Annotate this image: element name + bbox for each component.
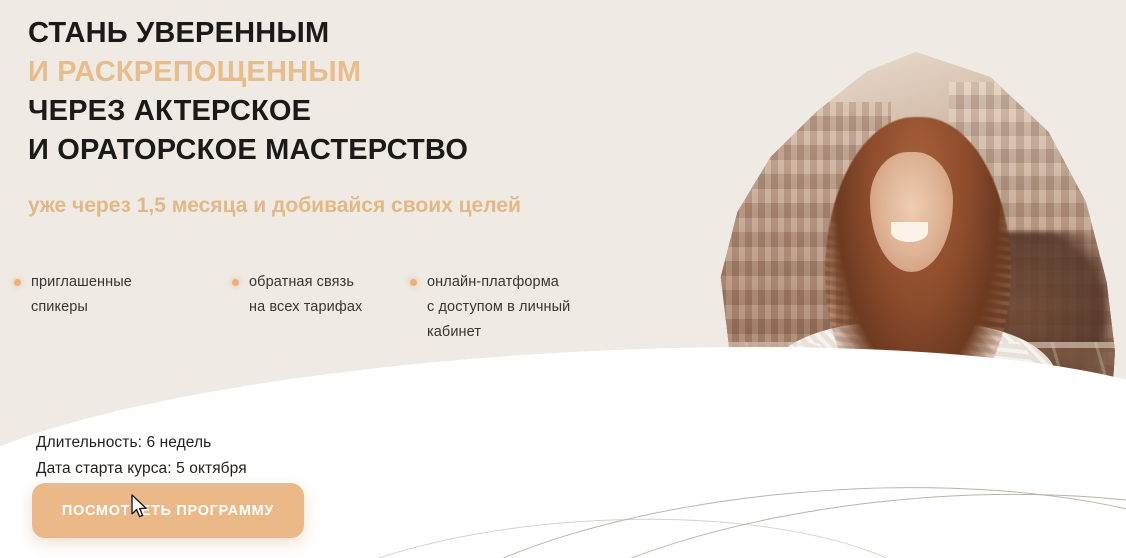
feature-line: онлайн-платформа: [427, 274, 559, 290]
feature-line: с доступом в личный: [427, 299, 570, 315]
headline-line-1-dark: СТАНЬ: [28, 17, 128, 49]
feature-line: кабинет: [427, 324, 481, 340]
feature-line: на всех тарифах: [249, 299, 362, 315]
feature-line: обратная связь: [249, 274, 354, 290]
bullet-dot-icon: [232, 279, 239, 286]
headline-line-3: ЧЕРЕЗ АКТЕРСКОЕ: [28, 92, 468, 131]
feature-item-platform: онлайн-платформа с доступом в личный каб…: [410, 270, 630, 345]
feature-text: онлайн-платформа с доступом в личный каб…: [427, 270, 570, 345]
landing-page-hero: СТАНЬ УВЕРЕННЫМ И РАСКРЕПОЩЕННЫМ ЧЕРЕЗ А…: [0, 0, 1126, 558]
hero-headline: СТАНЬ УВЕРЕННЫМ И РАСКРЕПОЩЕННЫМ ЧЕРЕЗ А…: [28, 14, 468, 170]
feature-line: спикеры: [31, 299, 88, 315]
course-start-date: Дата старта курса: 5 октября: [36, 456, 247, 482]
headline-line-4: И ОРАТОРСКОЕ МАСТЕРСТВО: [28, 131, 468, 170]
view-program-button[interactable]: ПОСМОТРЕТЬ ПРОГРАММУ: [32, 483, 304, 538]
bullet-dot-icon: [410, 279, 417, 286]
course-duration: Длительность: 6 недель: [36, 430, 247, 456]
feature-item-feedback: обратная связь на всех тарифах: [232, 270, 410, 345]
bullet-dot-icon: [14, 279, 21, 286]
feature-item-speakers: приглашенные спикеры: [14, 270, 232, 345]
headline-line-1: СТАНЬ УВЕРЕННЫМ: [28, 14, 468, 53]
headline-line-1-accent: УВЕРЕННЫМ: [136, 17, 329, 49]
feature-list: приглашенные спикеры обратная связь на в…: [14, 270, 630, 345]
feature-text: обратная связь на всех тарифах: [249, 270, 362, 320]
feature-text: приглашенные спикеры: [31, 270, 132, 320]
hero-subheadline: уже через 1,5 месяца и добивайся своих ц…: [28, 192, 521, 220]
photo-smile: [891, 222, 928, 242]
course-meta: Длительность: 6 недель Дата старта курса…: [36, 430, 247, 482]
feature-line: приглашенные: [31, 274, 132, 290]
headline-line-2: И РАСКРЕПОЩЕННЫМ: [28, 53, 468, 92]
